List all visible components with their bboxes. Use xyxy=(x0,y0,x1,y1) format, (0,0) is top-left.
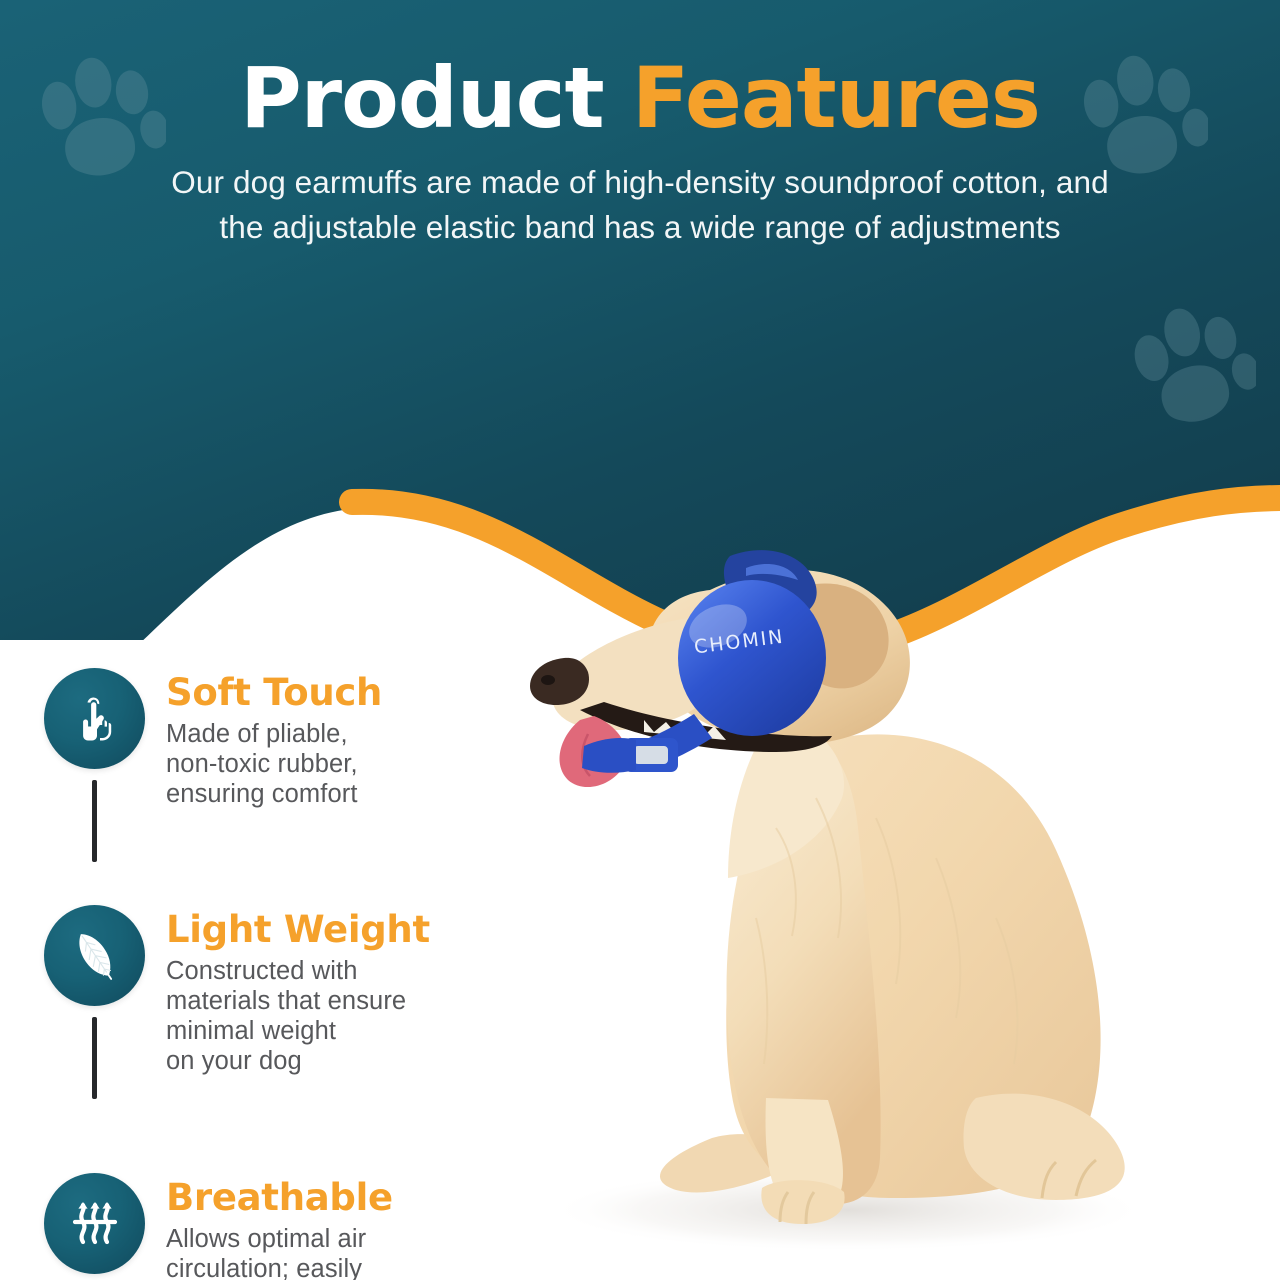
feature-item-light-weight[interactable]: Light Weight Constructed with materials … xyxy=(44,905,514,1076)
feature-title: Light Weight xyxy=(166,911,430,948)
feature-title: Soft Touch xyxy=(166,674,382,711)
earmuff-cup xyxy=(678,580,826,736)
feature-icon-column xyxy=(44,905,166,1006)
feature-icon-column xyxy=(44,1173,166,1274)
dog-front-paw xyxy=(761,1180,844,1224)
feature-text-column: Breathable Allows optimal air circulatio… xyxy=(166,1173,393,1280)
page-title-accent: Features xyxy=(632,49,1040,147)
feature-connector-line xyxy=(92,780,97,862)
feature-text-column: Light Weight Constructed with materials … xyxy=(166,905,430,1076)
feature-description: Made of pliable, non-toxic rubber, ensur… xyxy=(166,719,382,809)
hand-tap-icon xyxy=(44,668,145,769)
feature-item-breathable[interactable]: Breathable Allows optimal air circulatio… xyxy=(44,1173,514,1280)
feature-description: Constructed with materials that ensure m… xyxy=(166,956,430,1076)
feature-text-column: Soft Touch Made of pliable, non-toxic ru… xyxy=(166,668,382,809)
feature-connector-line xyxy=(92,1017,97,1099)
page-subtitle: Our dog earmuffs are made of high-densit… xyxy=(70,160,1210,249)
page-title-primary: Product xyxy=(240,49,604,147)
header-text-block: Product Features Our dog earmuffs are ma… xyxy=(0,0,1280,249)
feather-icon xyxy=(44,905,145,1006)
dog-nostril xyxy=(541,675,555,685)
page-subtitle-line-1: Our dog earmuffs are made of high-densit… xyxy=(171,164,1108,200)
golden-retriever-dog-with-earmuffs-photo: CHOMIN xyxy=(476,498,1188,1280)
infographic-page: Product Features Our dog earmuffs are ma… xyxy=(0,0,1280,1280)
earmuff-buckle-plate xyxy=(634,746,668,764)
feature-list: Soft Touch Made of pliable, non-toxic ru… xyxy=(44,668,514,1280)
page-title: Product Features xyxy=(0,0,1280,140)
feature-description: Allows optimal air circulation; easily m… xyxy=(166,1224,393,1280)
feature-title: Breathable xyxy=(166,1179,393,1216)
feature-item-soft-touch[interactable]: Soft Touch Made of pliable, non-toxic ru… xyxy=(44,668,514,809)
airflow-icon xyxy=(44,1173,145,1274)
page-subtitle-line-2: the adjustable elastic band has a wide r… xyxy=(219,209,1060,245)
feature-icon-column xyxy=(44,668,166,769)
